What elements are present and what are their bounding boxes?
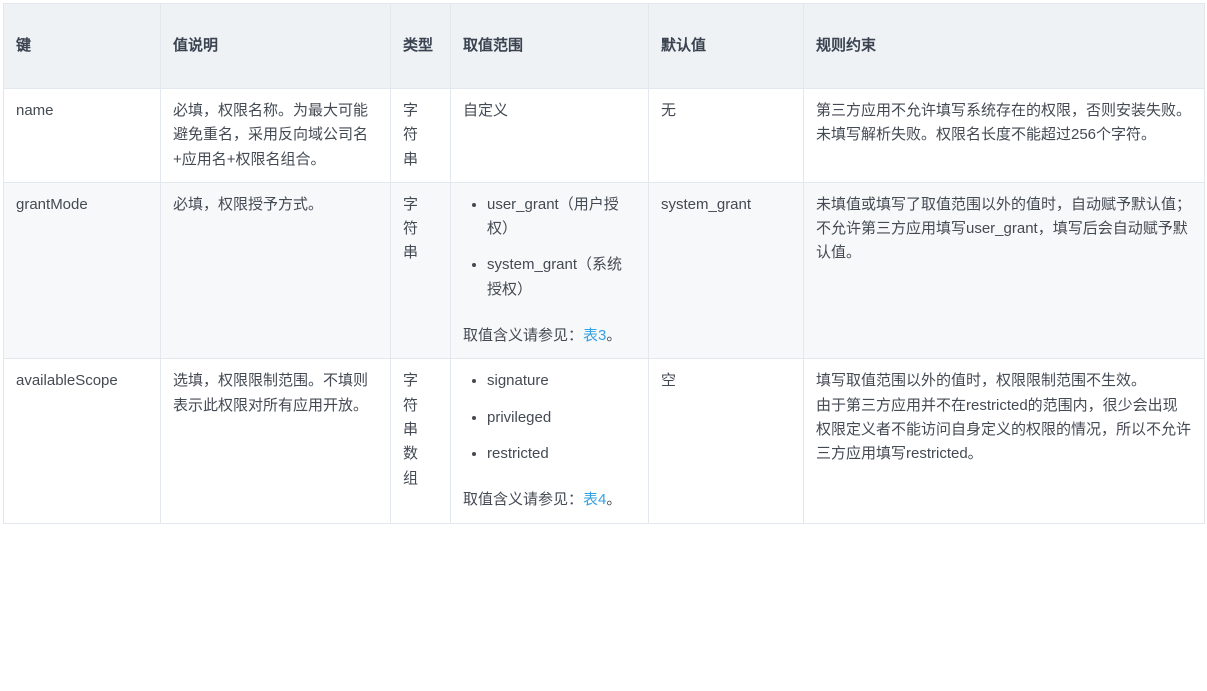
table-row: name 必填，权限名称。为最大可能避免重名，采用反向域公司名+应用名+权限名组… [4,89,1205,183]
row-key-grantmode: grantMode [4,182,161,358]
row-rule-name: 第三方应用不允许填写系统存在的权限，否则安装失败。未填写解析失败。权限名长度不能… [804,89,1205,183]
see-also-note: 取值含义请参见：表4。 [463,488,636,512]
row-description-name: 必填，权限名称。为最大可能避免重名，采用反向域公司名+应用名+权限名组合。 [161,89,391,183]
row-type-grantmode: 字符串 [391,182,451,358]
value-range-list: user_grant（用户授权） system_grant（系统授权） [463,193,636,302]
column-header-rule-constraint: 规则约束 [804,4,1205,89]
row-key-name: name [4,89,161,183]
row-type-availablescope: 字符串数组 [391,359,451,523]
value-range-list: signature privileged restricted [463,369,636,466]
row-type-text-availablescope: 字符串数组 [403,369,418,490]
permission-spec-table-container: 键 值说明 类型 取值范围 默认值 规则约束 name 必填，权限名称。为最大可… [0,0,1207,524]
table-4-link[interactable]: 表4 [583,491,606,508]
see-also-prefix: 取值含义请参见： [463,491,583,508]
row-rule-availablescope: 填写取值范围以外的值时，权限限制范围不生效。 由于第三方应用并不在restric… [804,359,1205,523]
row-type-text-grantmode: 字符串 [403,193,418,266]
column-header-default-value: 默认值 [649,4,804,89]
permission-spec-table: 键 值说明 类型 取值范围 默认值 规则约束 name 必填，权限名称。为最大可… [3,3,1205,524]
table-3-link[interactable]: 表3 [583,327,606,344]
row-description-availablescope: 选填，权限限制范围。不填则表示此权限对所有应用开放。 [161,359,391,523]
row-default-availablescope: 空 [649,359,804,523]
row-range-availablescope: signature privileged restricted 取值含义请参见：… [451,359,649,523]
row-range-text-name: 自定义 [463,102,508,119]
list-item: signature [487,369,636,393]
table-header-row: 键 值说明 类型 取值范围 默认值 规则约束 [4,4,1205,89]
column-header-value-description: 值说明 [161,4,391,89]
list-item: restricted [487,442,636,466]
row-description-grantmode: 必填，权限授予方式。 [161,182,391,358]
see-also-note: 取值含义请参见：表3。 [463,324,636,348]
row-type-name: 字符串 [391,89,451,183]
column-header-value-range: 取值范围 [451,4,649,89]
see-also-suffix: 。 [606,491,621,508]
column-header-type: 类型 [391,4,451,89]
see-also-prefix: 取值含义请参见： [463,327,583,344]
column-header-key: 键 [4,4,161,89]
row-range-name: 自定义 [451,89,649,183]
row-default-grantmode: system_grant [649,182,804,358]
see-also-suffix: 。 [606,327,621,344]
table-body: name 必填，权限名称。为最大可能避免重名，采用反向域公司名+应用名+权限名组… [4,89,1205,524]
row-range-grantmode: user_grant（用户授权） system_grant（系统授权） 取值含义… [451,182,649,358]
table-row: availableScope 选填，权限限制范围。不填则表示此权限对所有应用开放… [4,359,1205,523]
row-default-name: 无 [649,89,804,183]
table-row: grantMode 必填，权限授予方式。 字符串 user_grant（用户授权… [4,182,1205,358]
row-rule-grantmode: 未填值或填写了取值范围以外的值时，自动赋予默认值； 不允许第三方应用填写user… [804,182,1205,358]
table-header: 键 值说明 类型 取值范围 默认值 规则约束 [4,4,1205,89]
list-item: system_grant（系统授权） [487,253,636,302]
row-key-availablescope: availableScope [4,359,161,523]
row-type-text-name: 字符串 [403,99,418,172]
list-item: privileged [487,406,636,430]
list-item: user_grant（用户授权） [487,193,636,242]
